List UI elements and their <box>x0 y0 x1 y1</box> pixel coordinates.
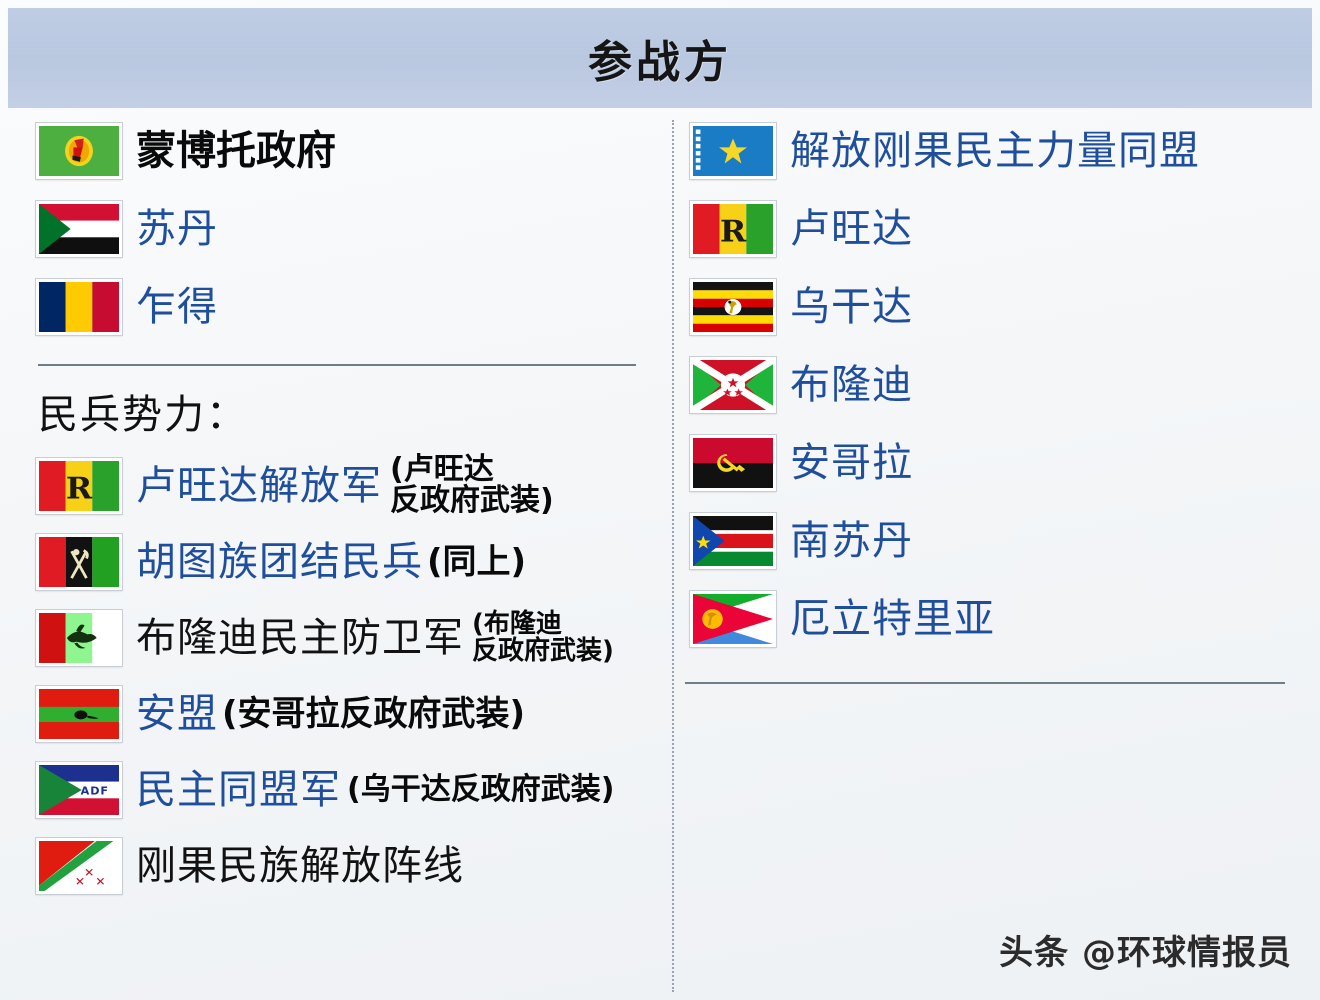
sudan-flag <box>36 201 122 257</box>
note-line-2: 反政府武装) <box>390 486 554 517</box>
list-item: 乍得 <box>28 268 672 346</box>
note-line-1: (布隆迪 <box>472 611 614 638</box>
page-header-banner: 参战方 <box>8 8 1312 108</box>
list-item-label: 安哥拉 <box>790 442 913 484</box>
section-divider <box>38 364 636 366</box>
list-item-label: 解放刚果民主力量同盟 <box>790 130 1200 172</box>
list-item-label: 布隆迪 <box>790 364 913 406</box>
list-item: 南苏丹 <box>682 502 1312 580</box>
list-item: R 卢旺达 <box>682 190 1312 268</box>
content-area: 蒙博托政府 苏丹 <box>0 112 1320 1000</box>
adf-flag: ADF <box>36 762 122 818</box>
svg-text:✕: ✕ <box>84 866 94 880</box>
list-item: ✕ ✕ ✕ 刚果民族解放阵线 <box>28 828 672 904</box>
list-item-note: (布隆迪 反政府武装) <box>472 611 614 664</box>
page-title: 参战方 <box>588 26 732 90</box>
svg-text:R: R <box>66 471 93 506</box>
uganda-flag <box>690 279 776 335</box>
list-item-label: 卢旺达解放军 <box>136 465 382 507</box>
cnl-flag: ✕ ✕ ✕ <box>36 838 122 894</box>
watermark: 头条 @环球情报员 <box>999 925 1292 974</box>
list-item-note: (乌干达反政府武装) <box>347 775 614 806</box>
list-item: 安盟 (安哥拉反政府武装) <box>28 676 672 752</box>
section-divider <box>685 682 1285 684</box>
note-line-1: (卢旺达 <box>390 455 554 486</box>
list-item-note: (卢旺达 反政府武装) <box>390 455 554 516</box>
angola-flag <box>690 435 776 491</box>
list-item: 苏丹 <box>28 190 672 268</box>
list-item-label: 乍得 <box>136 286 218 328</box>
eritrea-flag <box>690 591 776 647</box>
rwanda-old-flag: R <box>690 201 776 257</box>
list-item-label: 卢旺达 <box>790 208 913 250</box>
list-item: 厄立特里亚 <box>682 580 1312 658</box>
list-item: 胡图族团结民兵 (同上) <box>28 524 672 600</box>
list-item-label: 蒙博托政府 <box>136 130 336 172</box>
afdl-flag <box>690 123 776 179</box>
list-item-label: 安盟 <box>136 693 218 735</box>
infographic-page: 参战方 蒙博托政府 <box>0 0 1320 1000</box>
list-item: 解放刚果民主力量同盟 <box>682 112 1312 190</box>
unita-flag <box>36 686 122 742</box>
svg-text:✕: ✕ <box>75 875 85 889</box>
cdr-hutu-flag <box>36 534 122 590</box>
militia-section-label: 民兵势力： <box>28 376 672 448</box>
chad-flag <box>36 279 122 335</box>
svg-text:R: R <box>720 214 747 249</box>
list-item-note: (安哥拉反政府武装) <box>222 697 525 732</box>
note-line-2: 反政府武装) <box>472 638 614 665</box>
list-item-note: (同上) <box>427 545 526 580</box>
list-item-label: 乌干达 <box>790 286 913 328</box>
right-column: 解放刚果民主力量同盟 R 卢旺达 <box>682 112 1312 694</box>
list-item: R 卢旺达解放军 (卢旺达 反政府武装) <box>28 448 672 524</box>
svg-text:ADF: ADF <box>81 785 109 798</box>
list-item-label: 布隆迪民主防卫军 <box>136 617 464 659</box>
svg-text:✕: ✕ <box>95 875 105 889</box>
rwanda-old-flag: R <box>36 458 122 514</box>
list-item: 布隆迪民主防卫军 (布隆迪 反政府武装) <box>28 600 672 676</box>
list-item: ADF 民主同盟军 (乌干达反政府武装) <box>28 752 672 828</box>
list-item-label: 苏丹 <box>136 208 218 250</box>
list-item-label: 刚果民族解放阵线 <box>136 845 464 887</box>
list-item-label: 厄立特里亚 <box>790 598 995 640</box>
burundi-flag <box>690 357 776 413</box>
list-item: 乌干达 <box>682 268 1312 346</box>
left-column: 蒙博托政府 苏丹 <box>28 112 672 904</box>
zaire-flag <box>36 123 122 179</box>
cndd-fdd-flag <box>36 610 122 666</box>
list-item: 安哥拉 <box>682 424 1312 502</box>
list-item-label: 胡图族团结民兵 <box>136 541 423 583</box>
list-item-label: 南苏丹 <box>790 520 913 562</box>
list-item-label: 民主同盟军 <box>136 769 341 811</box>
list-item: 蒙博托政府 <box>28 112 672 190</box>
south-sudan-flag <box>690 513 776 569</box>
list-item: 布隆迪 <box>682 346 1312 424</box>
column-divider <box>672 120 674 992</box>
